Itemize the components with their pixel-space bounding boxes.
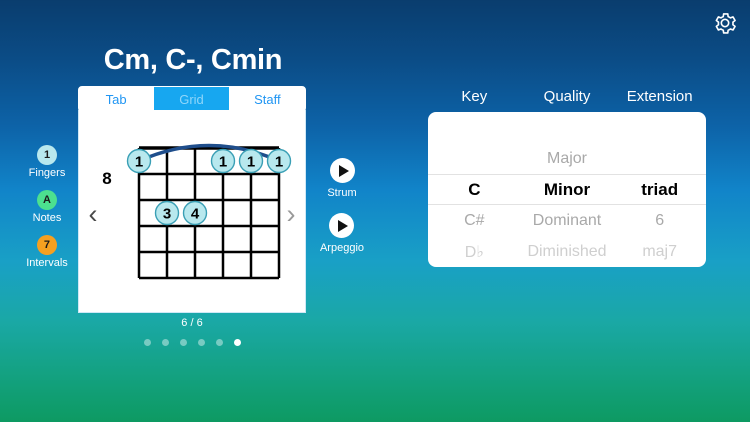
gear-icon xyxy=(712,10,738,36)
playback-rail[interactable]: Strum Arpeggio xyxy=(312,158,372,254)
mode-label-fingers: Fingers xyxy=(29,167,66,179)
page-dot[interactable] xyxy=(198,339,205,346)
finger-marker: 1 xyxy=(128,150,151,173)
picker-column-key[interactable]: CC#D♭ xyxy=(428,112,521,267)
svg-text:4: 4 xyxy=(191,206,200,223)
picker-option-extension[interactable] xyxy=(613,112,706,143)
mode-item-fingers[interactable]: 1 Fingers xyxy=(29,145,66,179)
picker-option-quality[interactable]: Dominant xyxy=(521,205,614,236)
page-dots[interactable] xyxy=(78,339,306,346)
page-counter: 6 / 6 xyxy=(78,317,306,329)
picker-option-extension[interactable] xyxy=(613,143,706,174)
picker-headers: Key Quality Extension xyxy=(428,88,706,105)
page-dot[interactable] xyxy=(144,339,151,346)
svg-text:1: 1 xyxy=(275,154,283,171)
page-dot[interactable] xyxy=(216,339,223,346)
picker-option-key[interactable]: C xyxy=(428,174,521,205)
picker-column-extension[interactable]: triad6maj7 xyxy=(613,112,706,267)
finger-markers: 111134 xyxy=(128,150,291,225)
page-dot[interactable] xyxy=(234,339,241,346)
mode-label-intervals: Intervals xyxy=(26,257,68,269)
strum-button[interactable]: Strum xyxy=(327,158,356,199)
svg-text:1: 1 xyxy=(135,154,143,171)
svg-text:1: 1 xyxy=(247,154,255,171)
page-title: Cm, C-, Cmin xyxy=(78,44,308,77)
picker-option-extension[interactable]: triad xyxy=(613,174,706,205)
svg-text:1: 1 xyxy=(219,154,227,171)
arpeggio-label: Arpeggio xyxy=(320,242,364,254)
finger-marker: 1 xyxy=(212,150,235,173)
picker-option-key[interactable] xyxy=(428,143,521,174)
svg-text:3: 3 xyxy=(163,206,171,223)
tab-staff[interactable]: Staff xyxy=(230,87,305,111)
fret-position-number: 8 xyxy=(102,169,111,188)
chord-picker[interactable]: CC#D♭ MajorMinorDominantDiminished triad… xyxy=(428,112,706,267)
page-dot[interactable] xyxy=(162,339,169,346)
picker-header-quality: Quality xyxy=(521,88,614,105)
mode-item-intervals[interactable]: 7 Intervals xyxy=(26,235,68,269)
play-icon xyxy=(329,213,354,238)
picker-header-key: Key xyxy=(428,88,521,105)
page-dot[interactable] xyxy=(180,339,187,346)
picker-option-quality[interactable]: Minor xyxy=(521,174,614,205)
picker-option-quality[interactable]: Diminished xyxy=(521,236,614,267)
tab-grid[interactable]: Grid xyxy=(154,87,229,111)
picker-option-key[interactable]: C# xyxy=(428,205,521,236)
picker-option-extension[interactable]: 6 xyxy=(613,205,706,236)
picker-header-extension: Extension xyxy=(613,88,706,105)
notes-badge-icon: A xyxy=(37,190,57,210)
previous-chord-button[interactable]: ‹ xyxy=(82,198,104,230)
tab-tab[interactable]: Tab xyxy=(79,87,154,111)
finger-marker: 1 xyxy=(240,150,263,173)
picker-option-extension[interactable]: maj7 xyxy=(613,236,706,267)
intervals-badge-icon: 7 xyxy=(37,235,57,255)
mode-label-notes: Notes xyxy=(33,212,62,224)
view-mode-segmented-control[interactable]: Tab Grid Staff xyxy=(78,86,306,112)
strum-label: Strum xyxy=(327,187,356,199)
chord-card: 8 111134 xyxy=(78,110,306,313)
mode-item-notes[interactable]: A Notes xyxy=(33,190,62,224)
picker-option-quality[interactable] xyxy=(521,112,614,143)
picker-option-quality[interactable]: Major xyxy=(521,143,614,174)
arpeggio-button[interactable]: Arpeggio xyxy=(320,213,364,254)
chord-diagram[interactable]: 8 111134 xyxy=(79,110,307,313)
finger-marker: 1 xyxy=(268,150,291,173)
fingers-badge-icon: 1 xyxy=(37,145,57,165)
picker-column-quality[interactable]: MajorMinorDominantDiminished xyxy=(521,112,614,267)
picker-option-key[interactable]: D♭ xyxy=(428,236,521,267)
settings-button[interactable] xyxy=(710,8,740,38)
display-mode-rail[interactable]: 1 Fingers A Notes 7 Intervals xyxy=(16,145,78,269)
next-chord-button[interactable]: › xyxy=(280,198,302,230)
finger-marker: 4 xyxy=(184,202,207,225)
play-icon xyxy=(330,158,355,183)
finger-marker: 3 xyxy=(156,202,179,225)
picker-option-key[interactable] xyxy=(428,112,521,143)
